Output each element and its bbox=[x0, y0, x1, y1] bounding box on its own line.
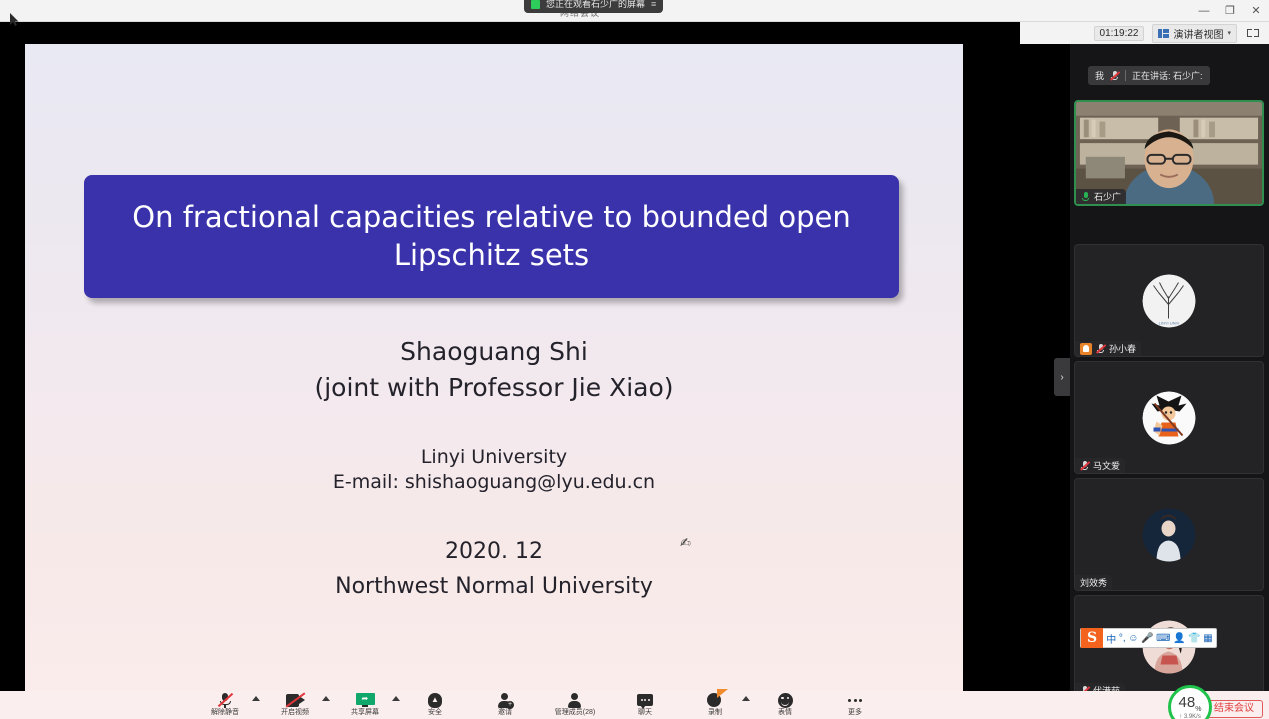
avatar bbox=[1143, 391, 1196, 444]
start-video-button[interactable]: 开启视频 bbox=[268, 692, 322, 716]
chat-label: 聊天 bbox=[638, 709, 652, 716]
participant-name: 石少广 bbox=[1094, 190, 1121, 203]
active-speaker-label: 正在讲话: 石少广: bbox=[1132, 69, 1203, 82]
speaker-view-icon bbox=[1158, 29, 1169, 38]
ime-emoji-icon[interactable]: ☺ bbox=[1128, 633, 1138, 644]
participant-tile-video[interactable]: 石少广 bbox=[1074, 100, 1264, 206]
audio-options-caret-icon[interactable] bbox=[252, 696, 260, 701]
share-screen-label: 共享屏幕 bbox=[351, 709, 379, 716]
ime-punctuation-icon[interactable]: °, bbox=[1119, 633, 1126, 644]
manage-participants-label: 管理成员(28) bbox=[555, 709, 595, 716]
more-icon bbox=[848, 699, 862, 702]
slide-email: E-mail: shishaoguang@lyu.edu.cn bbox=[25, 470, 963, 495]
mic-muted-icon bbox=[1110, 70, 1119, 81]
participant-name-chip: 刘效秀 bbox=[1075, 575, 1112, 590]
mic-muted-icon bbox=[218, 692, 232, 708]
emoji-label: 表情 bbox=[778, 709, 792, 716]
share-screen-icon: ➦ bbox=[356, 693, 375, 708]
window-controls: — ❐ ✕ bbox=[1191, 0, 1269, 22]
slide-university: Linyi University bbox=[25, 445, 963, 470]
network-percent: 48 bbox=[1179, 694, 1196, 711]
meeting-controls-bar: 解除静音 开启视频 ➦ 共享屏幕 ▲ 安全 + 邀请 bbox=[0, 691, 1269, 719]
more-button[interactable]: 更多 bbox=[828, 692, 882, 716]
participant-tile-avatar[interactable]: LINYI UNIV 孙小春 bbox=[1074, 244, 1264, 357]
view-mode-selector[interactable]: 演讲者视图 ▾ bbox=[1152, 24, 1237, 43]
fullscreen-icon[interactable] bbox=[1245, 26, 1261, 40]
slide-title-text: On fractional capacities relative to bou… bbox=[106, 199, 877, 273]
divider bbox=[1125, 70, 1126, 81]
invite-button[interactable]: + 邀请 bbox=[478, 692, 532, 716]
record-label: 录制 bbox=[708, 709, 722, 716]
mouse-cursor bbox=[10, 13, 19, 26]
avatar bbox=[1143, 508, 1196, 561]
sogou-logo-icon[interactable]: S bbox=[1081, 628, 1103, 648]
security-label: 安全 bbox=[428, 709, 442, 716]
meeting-header-bar: 01:19:22 演讲者视图 ▾ bbox=[1020, 22, 1269, 44]
avatar: LINYI UNIV bbox=[1143, 274, 1196, 327]
person-avatar-image bbox=[1143, 508, 1196, 561]
invite-label: 邀请 bbox=[498, 709, 512, 716]
start-video-label: 开启视频 bbox=[281, 709, 309, 716]
slide-author-name: Shaoguang Shi bbox=[25, 334, 963, 370]
participant-name: 马文爱 bbox=[1093, 459, 1120, 472]
ime-skin-icon[interactable]: 👕 bbox=[1188, 633, 1200, 644]
screen-share-status-pill[interactable]: 您正在观看石少广的屏幕 ≡ bbox=[524, 0, 663, 13]
active-speaker-bar: 我 正在讲话: 石少广: bbox=[1088, 66, 1210, 85]
network-percent-unit: % bbox=[1195, 706, 1201, 713]
presentation-slide: On fractional capacities relative to bou… bbox=[25, 44, 963, 691]
invite-person-icon: + bbox=[497, 693, 513, 708]
control-buttons: 解除静音 开启视频 ➦ 共享屏幕 ▲ 安全 + 邀请 bbox=[0, 691, 1080, 719]
ime-buttons[interactable]: 中 °, ☺ 🎤 ⌨ 👤 👕 ▦ bbox=[1103, 631, 1216, 646]
participant-name-chip: 石少广 bbox=[1076, 189, 1126, 204]
participant-name: 刘效秀 bbox=[1080, 576, 1107, 589]
chat-button[interactable]: 聊天 bbox=[618, 692, 672, 716]
goku-avatar-image bbox=[1143, 391, 1196, 444]
tree-avatar-image: LINYI UNIV bbox=[1143, 274, 1196, 327]
ime-account-icon[interactable]: 👤 bbox=[1173, 633, 1185, 644]
participant-name: 孙小春 bbox=[1109, 342, 1136, 355]
record-button[interactable]: 录制 bbox=[688, 692, 742, 716]
emoji-button[interactable]: 表情 bbox=[758, 692, 812, 716]
mic-muted-icon bbox=[1080, 460, 1089, 471]
ime-toolbox-icon[interactable]: ▦ bbox=[1203, 633, 1212, 644]
collapse-sidebar-handle[interactable]: › bbox=[1054, 358, 1070, 396]
meeting-window: — ❐ ✕ 您正在观看石少广的屏幕 ≡ 网络会议 01:19:22 演讲者视图 … bbox=[0, 0, 1269, 719]
share-menu-icon[interactable]: ≡ bbox=[651, 0, 656, 9]
network-quality-indicator[interactable]: 48% ↑ 3.9K/s bbox=[1168, 685, 1212, 719]
ime-mode-chinese-icon[interactable]: 中 bbox=[1106, 631, 1116, 646]
ime-voice-icon[interactable]: 🎤 bbox=[1141, 633, 1153, 644]
chevron-down-icon: ▾ bbox=[1227, 29, 1231, 37]
mic-muted-icon bbox=[1096, 343, 1105, 354]
emoji-icon bbox=[778, 693, 793, 708]
slide-title-banner: On fractional capacities relative to bou… bbox=[84, 175, 899, 298]
network-speed: ↑ 3.9K/s bbox=[1179, 714, 1201, 719]
ime-keyboard-icon[interactable]: ⌨ bbox=[1156, 633, 1170, 644]
meeting-timer: 01:19:22 bbox=[1094, 26, 1145, 41]
share-status-label: 您正在观看石少广的屏幕 bbox=[546, 0, 645, 9]
unmute-button[interactable]: 解除静音 bbox=[198, 692, 252, 716]
slide-date: 2020. 12 bbox=[25, 535, 963, 570]
shield-icon: ▲ bbox=[428, 693, 442, 708]
participant-tile-avatar[interactable]: 刘效秀 bbox=[1074, 478, 1264, 591]
participant-tile-avatar[interactable]: 马文爱 bbox=[1074, 361, 1264, 474]
participant-sidebar: 我 正在讲话: 石少广: bbox=[1070, 44, 1269, 691]
mic-on-icon bbox=[1081, 191, 1090, 202]
participant-name-chip: 孙小春 bbox=[1075, 341, 1141, 356]
participants-icon bbox=[567, 693, 583, 708]
video-options-caret-icon[interactable] bbox=[322, 696, 330, 701]
end-meeting-button[interactable]: 结束会议 bbox=[1205, 700, 1263, 718]
record-options-caret-icon[interactable] bbox=[742, 696, 750, 701]
close-button[interactable]: ✕ bbox=[1243, 0, 1269, 22]
camera-off-icon bbox=[286, 694, 305, 707]
self-label: 我 bbox=[1095, 69, 1104, 82]
share-active-indicator-icon bbox=[531, 0, 540, 9]
share-screen-button[interactable]: ➦ 共享屏幕 bbox=[338, 692, 392, 716]
manage-participants-button[interactable]: 管理成员(28) bbox=[548, 692, 602, 716]
record-icon bbox=[707, 692, 723, 708]
svg-text:LINYI UNIV: LINYI UNIV bbox=[1159, 320, 1180, 325]
chat-icon bbox=[637, 694, 653, 706]
share-options-caret-icon[interactable] bbox=[392, 696, 400, 701]
unmute-label: 解除静音 bbox=[211, 709, 239, 716]
security-button[interactable]: ▲ 安全 bbox=[408, 692, 462, 716]
slide-joint-author: (joint with Professor Jie Xiao) bbox=[25, 370, 963, 406]
slide-venue: Northwest Normal University bbox=[25, 570, 963, 605]
annotation-pen-cursor: ✍ bbox=[680, 536, 696, 552]
shared-screen-stage: On fractional capacities relative to bou… bbox=[0, 44, 1020, 691]
host-badge-icon bbox=[1080, 343, 1092, 355]
sogou-ime-toolbar[interactable]: S 中 °, ☺ 🎤 ⌨ 👤 👕 ▦ bbox=[1080, 628, 1217, 648]
maximize-button[interactable]: ❐ bbox=[1217, 0, 1243, 22]
more-label: 更多 bbox=[848, 709, 862, 716]
minimize-button[interactable]: — bbox=[1191, 0, 1217, 22]
view-mode-label: 演讲者视图 bbox=[1173, 26, 1223, 41]
slide-body: Shaoguang Shi (joint with Professor Jie … bbox=[25, 334, 963, 604]
participant-name-chip: 马文爱 bbox=[1075, 458, 1125, 473]
